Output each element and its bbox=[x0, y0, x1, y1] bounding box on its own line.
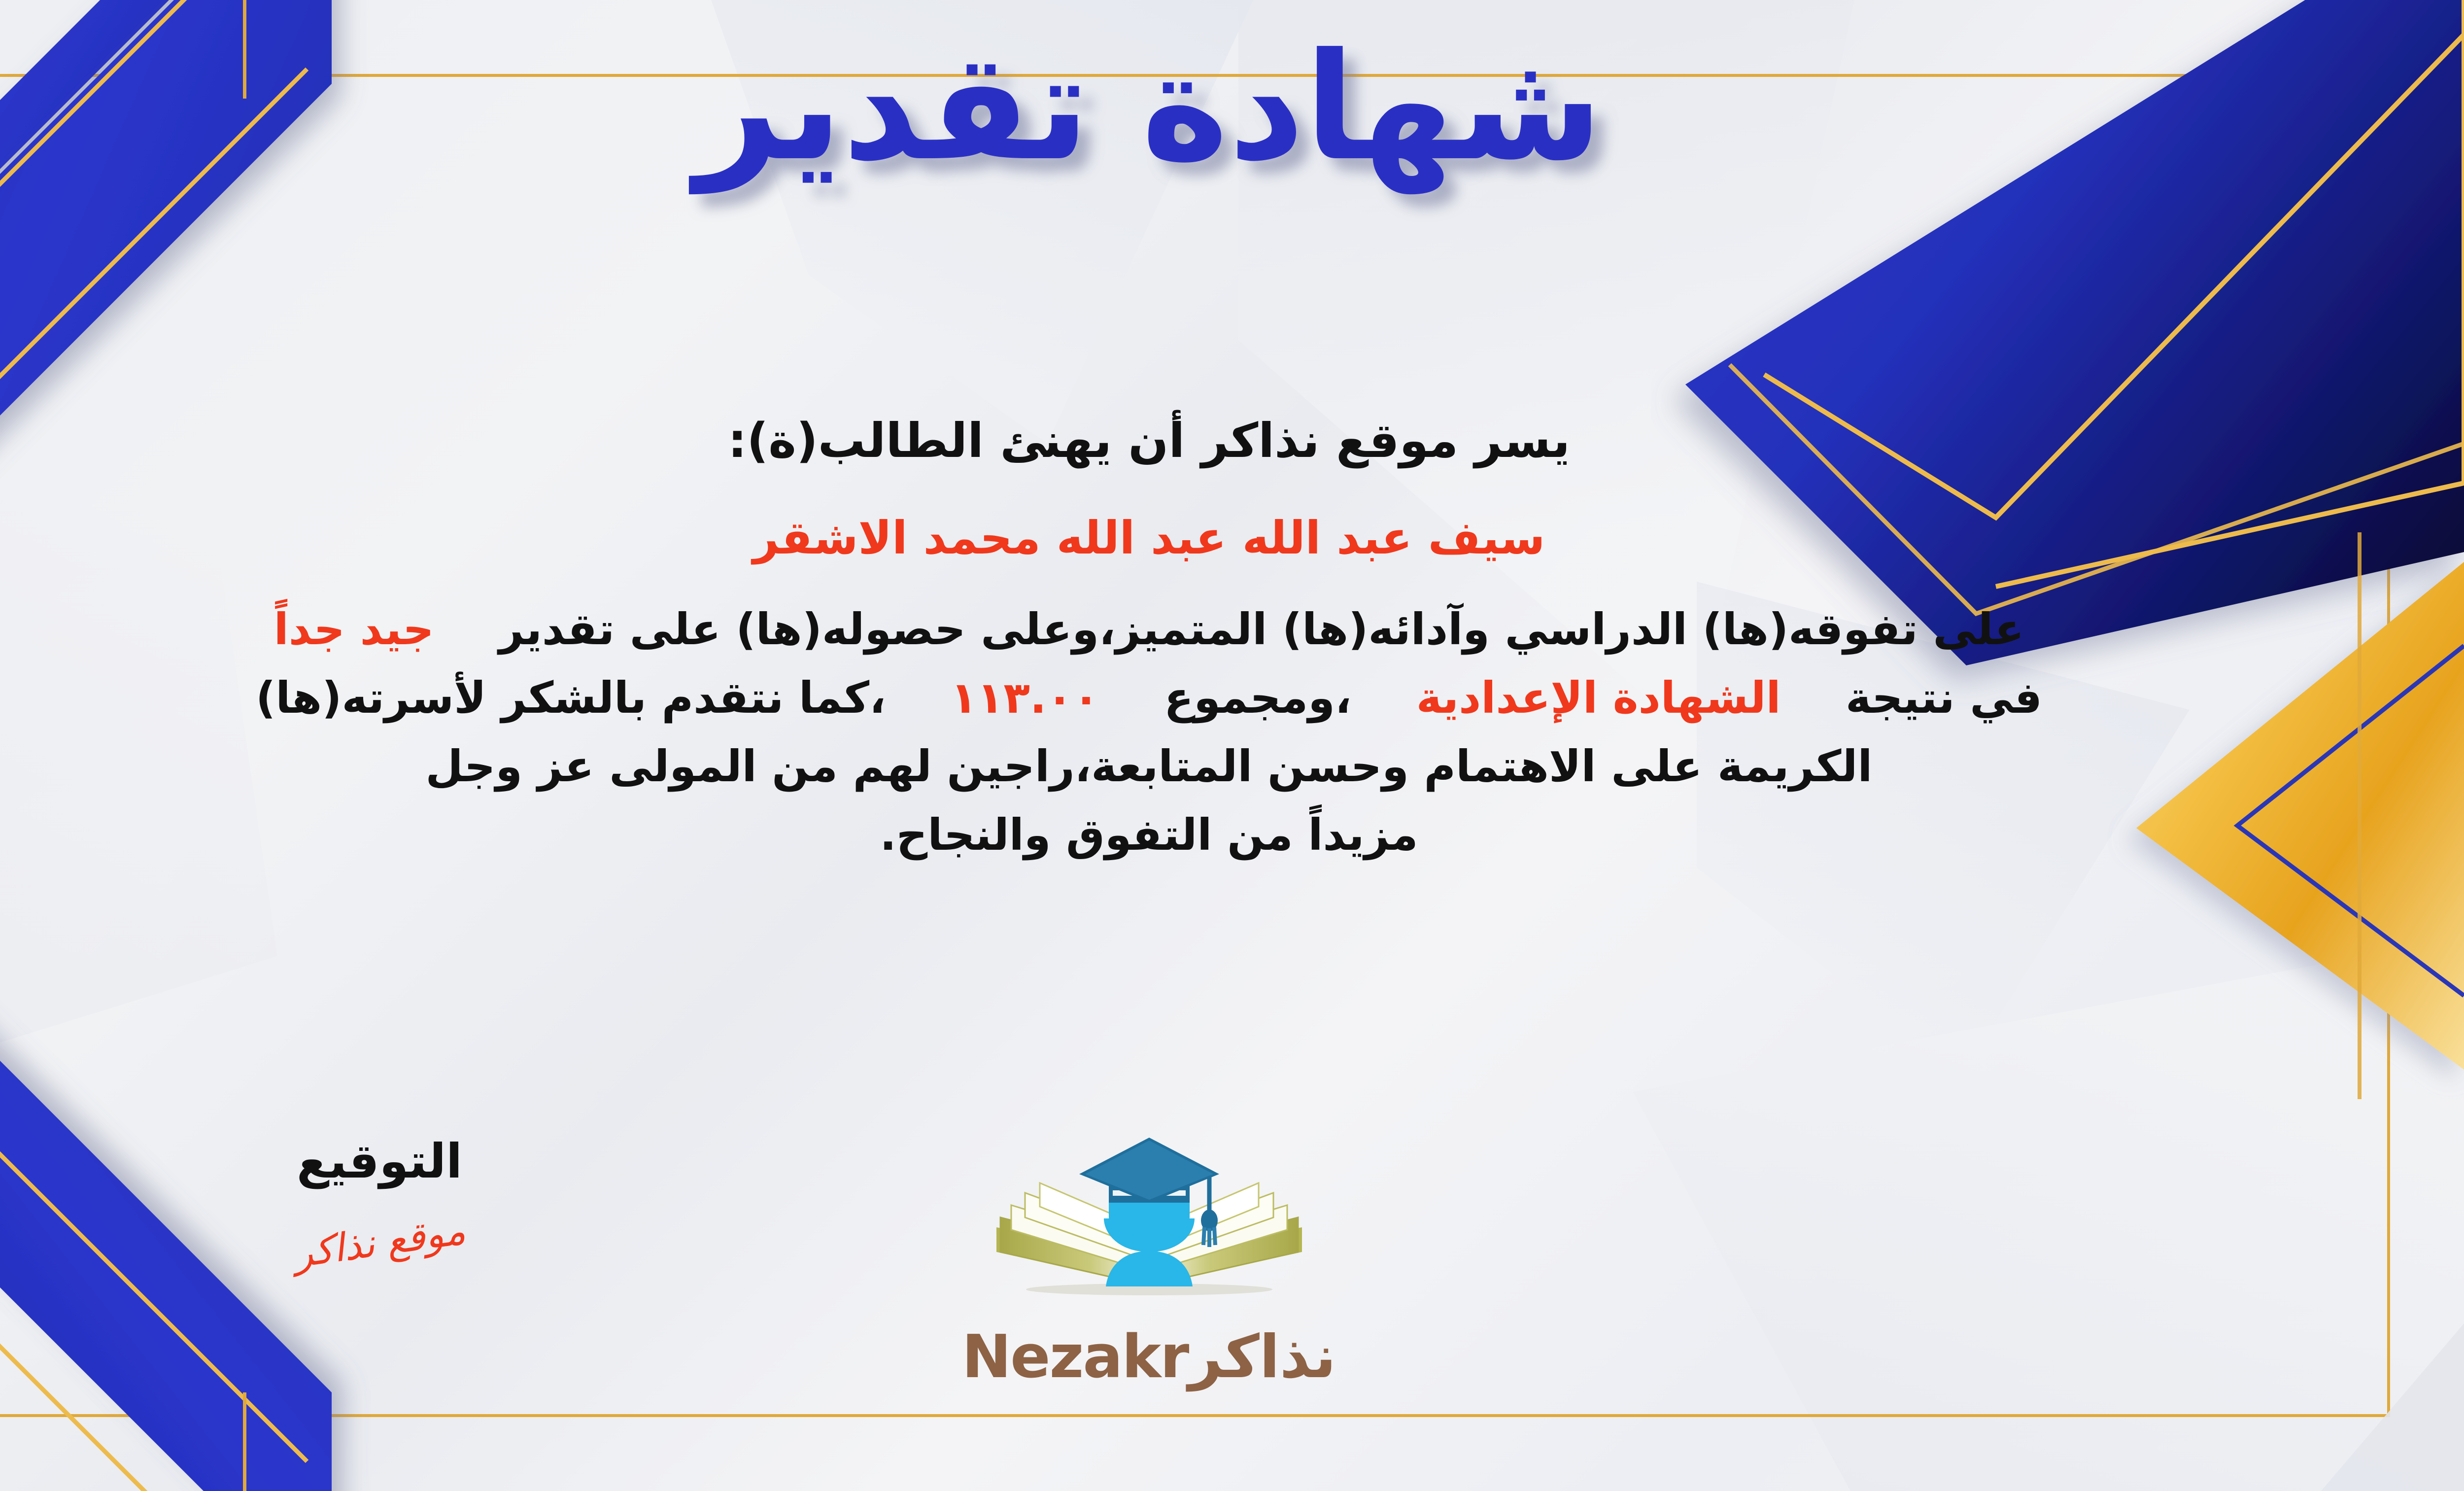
signature-block: التوقيع موقع نذاكر bbox=[207, 1134, 552, 1265]
family-thanks-line: الكريمة على الاهتمام وحسن المتابعة،راجين… bbox=[0, 736, 2316, 798]
certificate-canvas: شهادة تقدير يسر موقع نذاكر أن يهنئ الطال… bbox=[0, 0, 2464, 1491]
total-score: ١١٣.٠٠ bbox=[951, 672, 1099, 723]
logo-wordmark: نذاكرNezakr bbox=[947, 1323, 1351, 1391]
brand-logo: نذاكرNezakr bbox=[947, 1129, 1351, 1391]
certificate-content: شهادة تقدير يسر موقع نذاكر أن يهنئ الطال… bbox=[0, 0, 2464, 1491]
logo-mark bbox=[977, 1129, 1322, 1326]
certificate-body: يسر موقع نذاكر أن يهنئ الطالب(ة): سيف عب… bbox=[0, 404, 2316, 873]
thanks-prefix: ،كما نتقدم بالشكر لأسرته(ها) bbox=[256, 672, 886, 723]
exam-name: الشهادة الإعدادية bbox=[1416, 672, 1781, 723]
achievement-text: على تفوقه(ها) الدراسي وآدائه(ها) المتميز… bbox=[499, 604, 2024, 655]
result-prefix: في نتيجة bbox=[1846, 672, 2042, 723]
logo-graphic bbox=[977, 1129, 1322, 1326]
logo-brand-latin: Nezakr bbox=[962, 1323, 1189, 1391]
logo-brand-arabic: نذاكر bbox=[1188, 1323, 1336, 1391]
signature-handwritten: موقع نذاكر bbox=[291, 1209, 468, 1277]
student-name: سيف عبد الله عبد الله محمد الاشقر bbox=[0, 503, 2316, 574]
grade-value: جيد جداً bbox=[274, 604, 434, 655]
achievement-line: على تفوقه(ها) الدراسي وآدائه(ها) المتميز… bbox=[0, 599, 2316, 660]
result-line: في نتيجة الشهادة الإعدادية ،ومجموع ١١٣.٠… bbox=[0, 667, 2316, 729]
page-title: شهادة تقدير bbox=[0, 30, 2464, 185]
closing-line: مزيداً من التفوق والنجاح. bbox=[0, 804, 2316, 866]
total-label: ،ومجموع bbox=[1164, 672, 1351, 723]
intro-line: يسر موقع نذاكر أن يهنئ الطالب(ة): bbox=[0, 404, 2316, 478]
signature-label: التوقيع bbox=[207, 1134, 552, 1189]
